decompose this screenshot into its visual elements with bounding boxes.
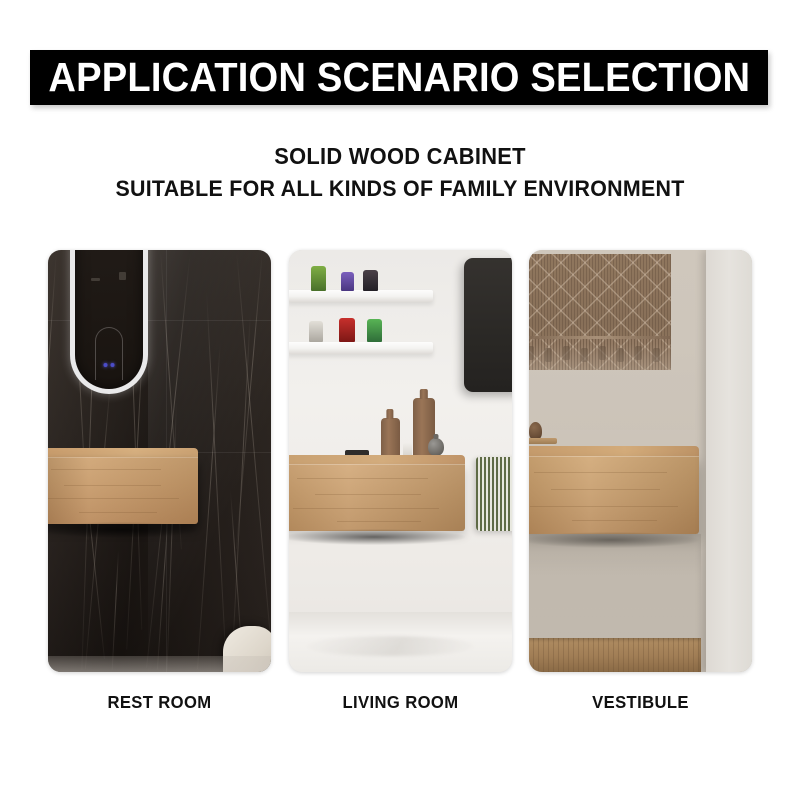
subtitle-line-2: SUITABLE FOR ALL KINDS OF FAMILY ENVIRON…: [20, 173, 780, 206]
bathroom-floor: [48, 656, 271, 672]
cabinet-drawer-front: [48, 457, 198, 524]
subtitle-line-1: SOLID WOOD CABINET: [20, 140, 780, 173]
slatted-bench: [529, 638, 701, 672]
subtitle-block: SOLID WOOD CABINET SUITABLE FOR ALL KIND…: [0, 140, 800, 206]
figurine-white: [309, 321, 323, 342]
floating-shelf-upper: [289, 290, 433, 302]
figurine-green-white: [367, 319, 382, 342]
wood-cabinet-rest-room: [48, 448, 198, 524]
mirror-touch-indicator: [104, 363, 115, 367]
caption-rest-room: REST ROOM: [54, 692, 266, 713]
scenario-image-living-room[interactable]: [289, 250, 512, 672]
living-room-floor: [289, 612, 512, 672]
vestibule-side-wall: [706, 250, 752, 672]
led-arch-mirror-icon: [70, 250, 148, 394]
cabinet-top: [529, 446, 699, 456]
figurine-red: [339, 318, 355, 342]
cabinet-shadow: [48, 522, 198, 538]
scenario-image-vestibule[interactable]: [529, 250, 752, 672]
wood-cabinet-living-room: [289, 455, 465, 531]
scenario-panels: [48, 250, 752, 672]
ceramic-vase-small: [381, 418, 400, 460]
cabinet-drawer-front: [289, 464, 465, 531]
dark-wall-panel: [464, 258, 512, 392]
wood-tray: [529, 438, 557, 444]
caption-living-room: LIVING ROOM: [294, 692, 506, 713]
figurine-purple: [341, 272, 354, 291]
wood-cabinet-vestibule: [529, 446, 699, 534]
vestibule-niche: [529, 534, 701, 638]
mirror-inner-arch: [95, 327, 123, 380]
title-banner: APPLICATION SCENARIO SELECTION: [30, 50, 768, 105]
cabinet-top: [48, 448, 198, 457]
scenario-image-rest-room[interactable]: [48, 250, 271, 672]
caption-vestibule: VESTIBULE: [535, 692, 747, 713]
mirror-reflection: [119, 272, 126, 280]
page-title: APPLICATION SCENARIO SELECTION: [48, 57, 750, 98]
cabinet-shadow: [289, 529, 465, 545]
figurine-green: [311, 266, 326, 291]
cabinet-drawer-front: [529, 456, 699, 534]
striped-textile: [476, 457, 512, 531]
mirror-reflection: [91, 278, 100, 281]
figurine-dark: [363, 270, 378, 291]
ceramic-ornament: [428, 438, 444, 456]
scenario-captions: REST ROOM LIVING ROOM VESTIBULE: [48, 692, 752, 713]
cabinet-top: [289, 455, 465, 464]
floating-shelf-lower: [289, 342, 433, 354]
